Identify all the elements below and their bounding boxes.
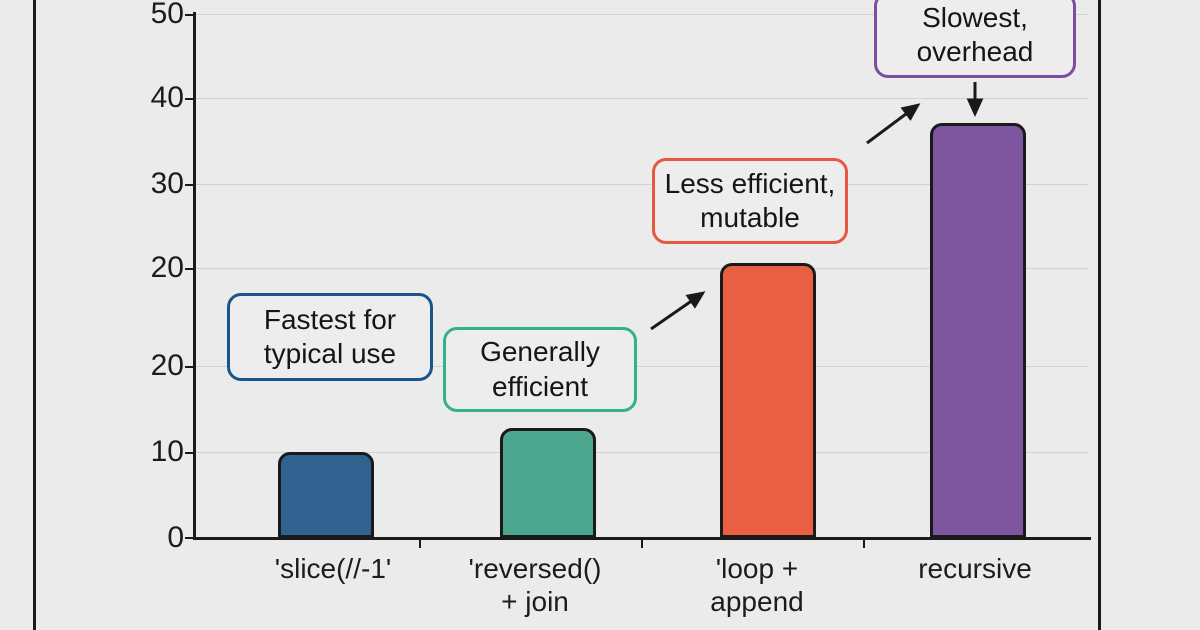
slide-frame-left-rule bbox=[33, 0, 36, 630]
bar-slice[interactable] bbox=[278, 452, 374, 538]
y-tick-label-50: 50 bbox=[64, 0, 184, 29]
bar-reversed[interactable] bbox=[500, 428, 596, 538]
x-category-label-loop: 'loop + append bbox=[642, 552, 872, 618]
x-tick-mark-2 bbox=[641, 538, 643, 548]
y-tick-label-20-upper: 20 bbox=[64, 253, 184, 283]
y-tick-label-10: 10 bbox=[64, 437, 184, 467]
x-category-label-recursive: recursive bbox=[860, 552, 1090, 585]
plot-area bbox=[196, 14, 1088, 538]
x-category-label-slice: 'slice(//-1' bbox=[218, 552, 448, 585]
chart-figure: Executin Time (ms) 50 40 30 20 20 10 0 '… bbox=[0, 0, 1200, 630]
x-tick-mark-1 bbox=[419, 538, 421, 548]
gridline-40 bbox=[196, 98, 1088, 99]
bar-recursive[interactable] bbox=[930, 123, 1026, 538]
x-tick-mark-3 bbox=[863, 538, 865, 548]
annotation-slowest[interactable]: Slowest, overhead bbox=[874, 0, 1076, 78]
annotation-generally-efficient[interactable]: Generally efficient bbox=[443, 327, 637, 412]
y-tick-label-30: 30 bbox=[64, 169, 184, 199]
x-category-label-reversed: 'reversed() + join bbox=[420, 552, 650, 618]
annotation-fastest[interactable]: Fastest for typical use bbox=[227, 293, 433, 381]
bar-loop[interactable] bbox=[720, 263, 816, 538]
y-tick-label-0: 0 bbox=[64, 523, 184, 553]
slide-frame-right-rule bbox=[1098, 0, 1101, 630]
annotation-less-efficient[interactable]: Less efficient, mutable bbox=[652, 158, 848, 244]
y-tick-label-40: 40 bbox=[64, 83, 184, 113]
y-tick-label-20-lower: 20 bbox=[64, 351, 184, 381]
